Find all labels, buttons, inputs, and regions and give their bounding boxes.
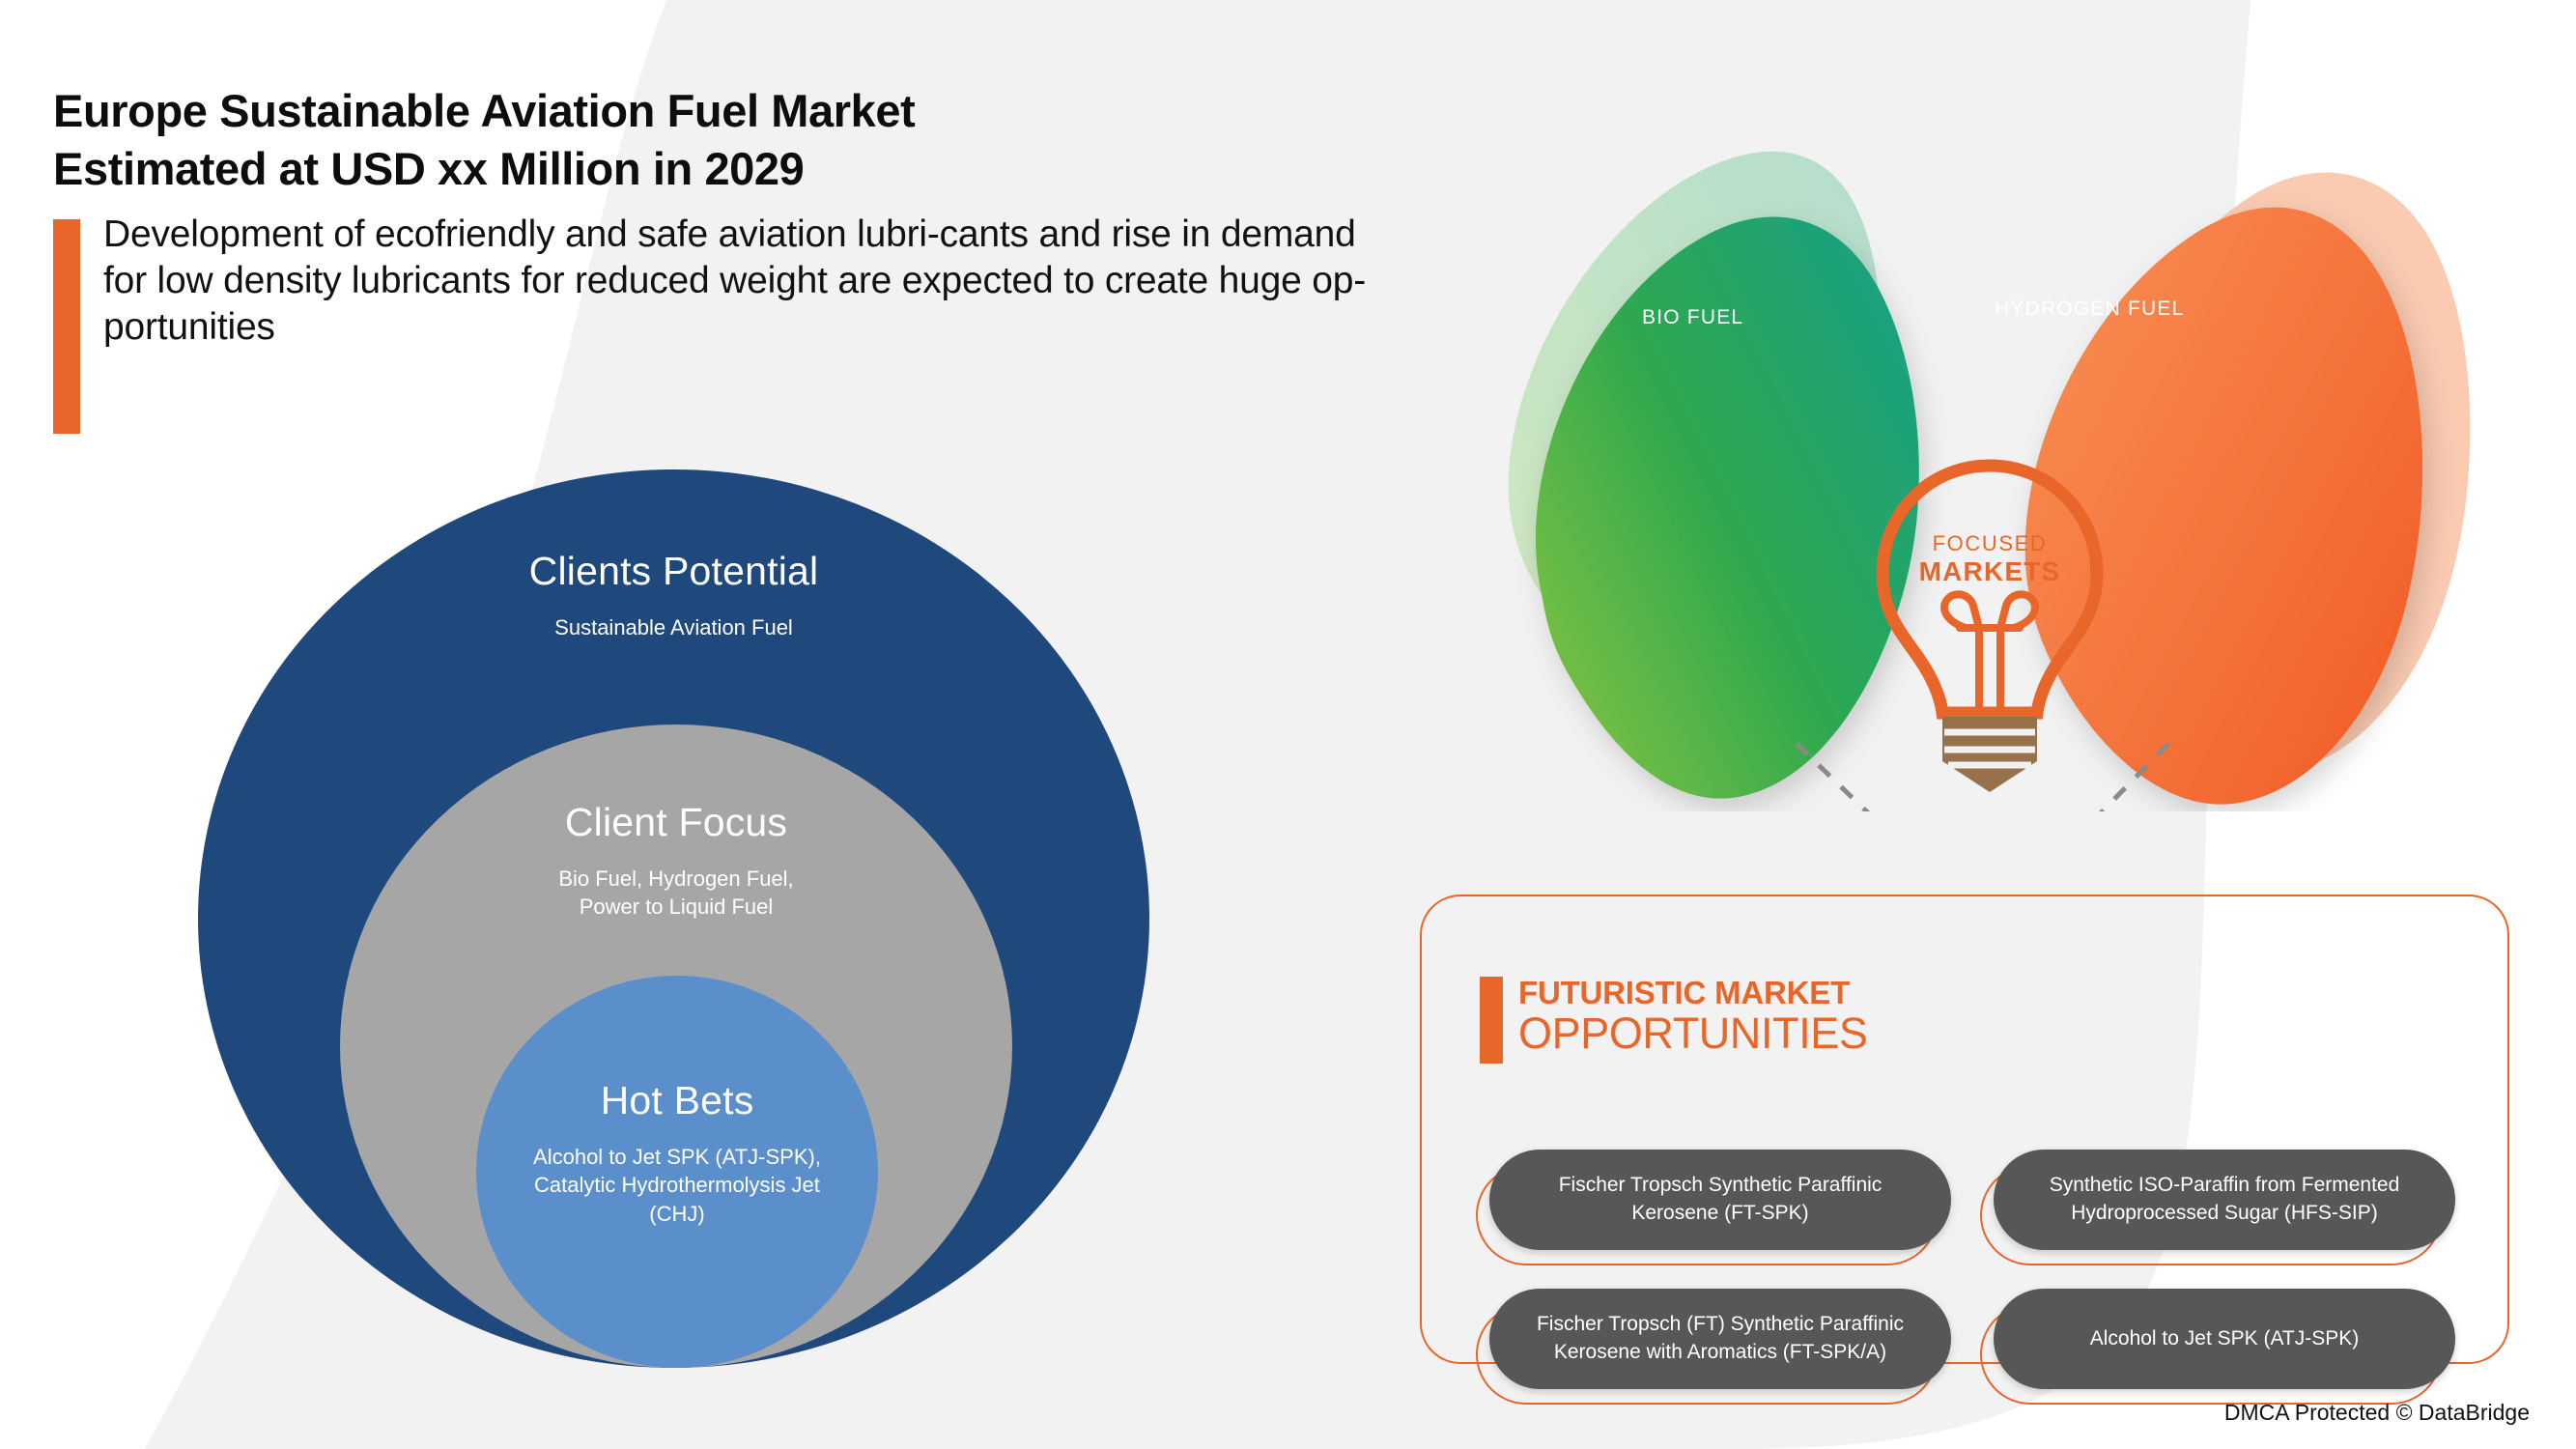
- lightbulb-label-line2: MARKETS: [1859, 556, 2120, 587]
- panel-heading-line2: OPPORTUNITIES: [1518, 1010, 1868, 1056]
- circle-outer-subtitle: Sustainable Aviation Fuel: [554, 613, 793, 641]
- headline-block: Europe Sustainable Aviation Fuel Market …: [53, 82, 1473, 434]
- clients-potential-diagram: Clients Potential Sustainable Aviation F…: [198, 469, 1149, 1368]
- circle-hot-bets: Hot Bets Alcohol to Jet SPK (ATJ-SPK), C…: [476, 976, 878, 1368]
- opportunity-pill-hfs-sip[interactable]: Synthetic ISO-Paraffin from Fermented Hy…: [1994, 1150, 2455, 1250]
- infographic-canvas: Europe Sustainable Aviation Fuel Market …: [0, 0, 2576, 1449]
- opportunity-pill-wrapper: Synthetic ISO-Paraffin from Fermented Hy…: [1994, 1150, 2455, 1250]
- page-title-line1: Europe Sustainable Aviation Fuel Market: [53, 82, 1473, 140]
- page-title-line2: Estimated at USD xx Million in 2029: [53, 140, 1473, 198]
- opportunity-pill-wrapper: Alcohol to Jet SPK (ATJ-SPK): [1994, 1289, 2455, 1389]
- opportunity-pill-ft-spk-a[interactable]: Fischer Tropsch (FT) Synthetic Paraffini…: [1489, 1289, 1951, 1389]
- panel-accent-bar: [1480, 977, 1503, 1064]
- panel-heading-line1: FUTURISTIC MARKET: [1518, 977, 1868, 1010]
- panel-heading: FUTURISTIC MARKET OPPORTUNITIES: [1480, 977, 1868, 1064]
- circle-mid-title: Client Focus: [565, 800, 787, 845]
- opportunity-pill-grid: Fischer Tropsch Synthetic Paraffinic Ker…: [1489, 1150, 2455, 1389]
- subtitle-row: Development of ecofriendly and safe avia…: [53, 212, 1473, 434]
- futuristic-market-opportunities-panel: FUTURISTIC MARKET OPPORTUNITIES Fischer …: [1420, 895, 2509, 1364]
- blob-label-hydrogen-fuel: HYDROGEN FUEL: [1995, 298, 2184, 321]
- opportunity-pill-atj-spk[interactable]: Alcohol to Jet SPK (ATJ-SPK): [1994, 1289, 2455, 1389]
- circle-inner-subtitle: Alcohol to Jet SPK (ATJ-SPK), Catalytic …: [533, 1143, 821, 1228]
- circle-mid-subtitle: Bio Fuel, Hydrogen Fuel, Power to Liquid…: [558, 865, 793, 922]
- subtitle-text: Development of ecofriendly and safe avia…: [103, 212, 1388, 351]
- lightbulb-label: FOCUSED MARKETS: [1859, 531, 2120, 587]
- opportunity-pill-wrapper: Fischer Tropsch (FT) Synthetic Paraffini…: [1489, 1289, 1951, 1389]
- blob-label-bio-fuel: BIO FUEL: [1642, 306, 1743, 329]
- lightbulb-icon: [1859, 454, 2120, 802]
- dmca-footer: DMCA Protected © DataBridge: [2224, 1400, 2530, 1426]
- opportunity-pill-wrapper: Fischer Tropsch Synthetic Paraffinic Ker…: [1489, 1150, 1951, 1250]
- circle-outer-title: Clients Potential: [529, 549, 819, 594]
- opportunity-pill-ft-spk[interactable]: Fischer Tropsch Synthetic Paraffinic Ker…: [1489, 1150, 1951, 1250]
- focused-markets-lightbulb: FOCUSED MARKETS: [1859, 454, 2120, 802]
- circle-inner-title: Hot Bets: [601, 1078, 754, 1123]
- lightbulb-label-line1: FOCUSED: [1859, 531, 2120, 556]
- subtitle-accent-bar: [53, 219, 80, 434]
